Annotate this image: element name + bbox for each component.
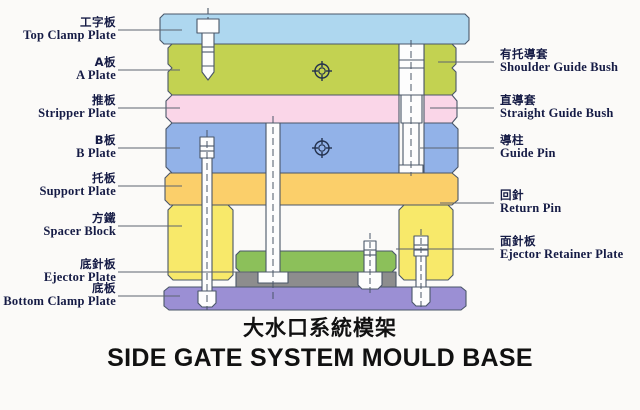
label-a-plate-en: A Plate	[76, 69, 116, 83]
label-stripper-plate-cn: 推板	[38, 94, 116, 106]
label-top-clamp-plate-en: Top Clamp Plate	[23, 29, 116, 43]
label-ejector-retainer-plate-en: Ejector Retainer Plate	[500, 248, 623, 262]
label-straight-guide-bush: 直導套 Straight Guide Bush	[500, 94, 614, 120]
label-spacer-block-cn: 方鐵	[43, 212, 116, 224]
label-return-pin-cn: 回針	[500, 189, 561, 201]
cap-screw-head	[197, 19, 219, 33]
label-b-plate-cn: B板	[76, 134, 116, 146]
label-spacer-block-en: Spacer Block	[43, 225, 116, 239]
label-guide-pin-cn: 導柱	[500, 134, 556, 146]
label-return-pin-en: Return Pin	[500, 202, 561, 216]
cap-screw-shank	[202, 33, 214, 66]
title-chinese: 大水口系統模架	[0, 312, 640, 342]
label-top-clamp-plate: 工字板 Top Clamp Plate	[23, 16, 116, 42]
label-straight-guide-bush-cn: 直導套	[500, 94, 614, 106]
plate-a-right-wing	[424, 44, 456, 95]
label-guide-pin-en: Guide Pin	[500, 147, 556, 161]
label-return-pin: 回針 Return Pin	[500, 189, 561, 215]
plate-stripper-right-wing	[424, 95, 457, 123]
label-b-plate-en: B Plate	[76, 147, 116, 161]
label-support-plate-en: Support Plate	[39, 185, 116, 199]
label-support-plate-cn: 托板	[39, 172, 116, 184]
label-support-plate: 托板 Support Plate	[39, 172, 116, 198]
label-shoulder-guide-bush-en: Shoulder Guide Bush	[500, 61, 618, 75]
label-b-plate: B板 B Plate	[76, 134, 116, 160]
label-ejector-plate-cn: 底針板	[44, 258, 116, 270]
label-bottom-clamp-plate: 底板 Bottom Clamp Plate	[3, 282, 116, 308]
plate-stripper	[166, 95, 399, 123]
label-shoulder-guide-bush-cn: 有托導套	[500, 48, 618, 60]
label-a-plate-cn: A板	[76, 56, 116, 68]
label-bottom-clamp-plate-en: Bottom Clamp Plate	[3, 295, 116, 309]
label-straight-guide-bush-en: Straight Guide Bush	[500, 107, 614, 121]
label-top-clamp-plate-cn: 工字板	[23, 16, 116, 28]
mould-base-diagram: 工字板 Top Clamp Plate A板 A Plate 推板 Stripp…	[0, 0, 640, 410]
label-stripper-plate-en: Stripper Plate	[38, 107, 116, 121]
label-ejector-retainer-plate: 面針板 Ejector Retainer Plate	[500, 235, 623, 261]
label-bottom-clamp-plate-cn: 底板	[3, 282, 116, 294]
title-english: SIDE GATE SYSTEM MOULD BASE	[0, 344, 640, 373]
label-guide-pin: 導柱 Guide Pin	[500, 134, 556, 160]
label-a-plate: A板 A Plate	[76, 56, 116, 82]
spacer-block-left	[168, 205, 233, 280]
center-ejector-sleeve	[266, 123, 280, 280]
label-spacer-block: 方鐵 Spacer Block	[43, 212, 116, 238]
label-shoulder-guide-bush: 有托導套 Shoulder Guide Bush	[500, 48, 618, 74]
label-stripper-plate: 推板 Stripper Plate	[38, 94, 116, 120]
label-ejector-retainer-plate-cn: 面針板	[500, 235, 623, 247]
